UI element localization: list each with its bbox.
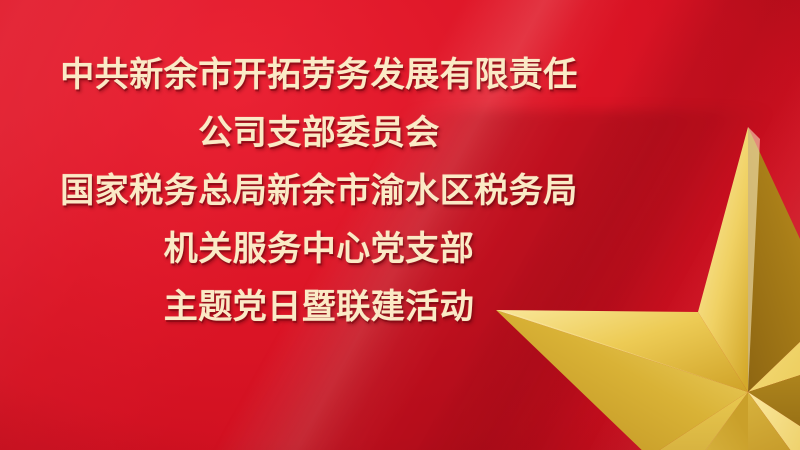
- headline-line-2: 公司支部委员会: [0, 104, 638, 162]
- banner-headline: 中共新余市开拓劳务发展有限责任 公司支部委员会 国家税务总局新余市渝水区税务局 …: [0, 0, 638, 336]
- headline-line-3: 国家税务总局新余市渝水区税务局: [0, 162, 638, 220]
- headline-line-1: 中共新余市开拓劳务发展有限责任: [0, 46, 638, 104]
- headline-line-5: 主题党日暨联建活动: [0, 278, 638, 336]
- banner-canvas: 中共新余市开拓劳务发展有限责任 公司支部委员会 国家税务总局新余市渝水区税务局 …: [0, 0, 800, 450]
- headline-line-4: 机关服务中心党支部: [0, 220, 638, 278]
